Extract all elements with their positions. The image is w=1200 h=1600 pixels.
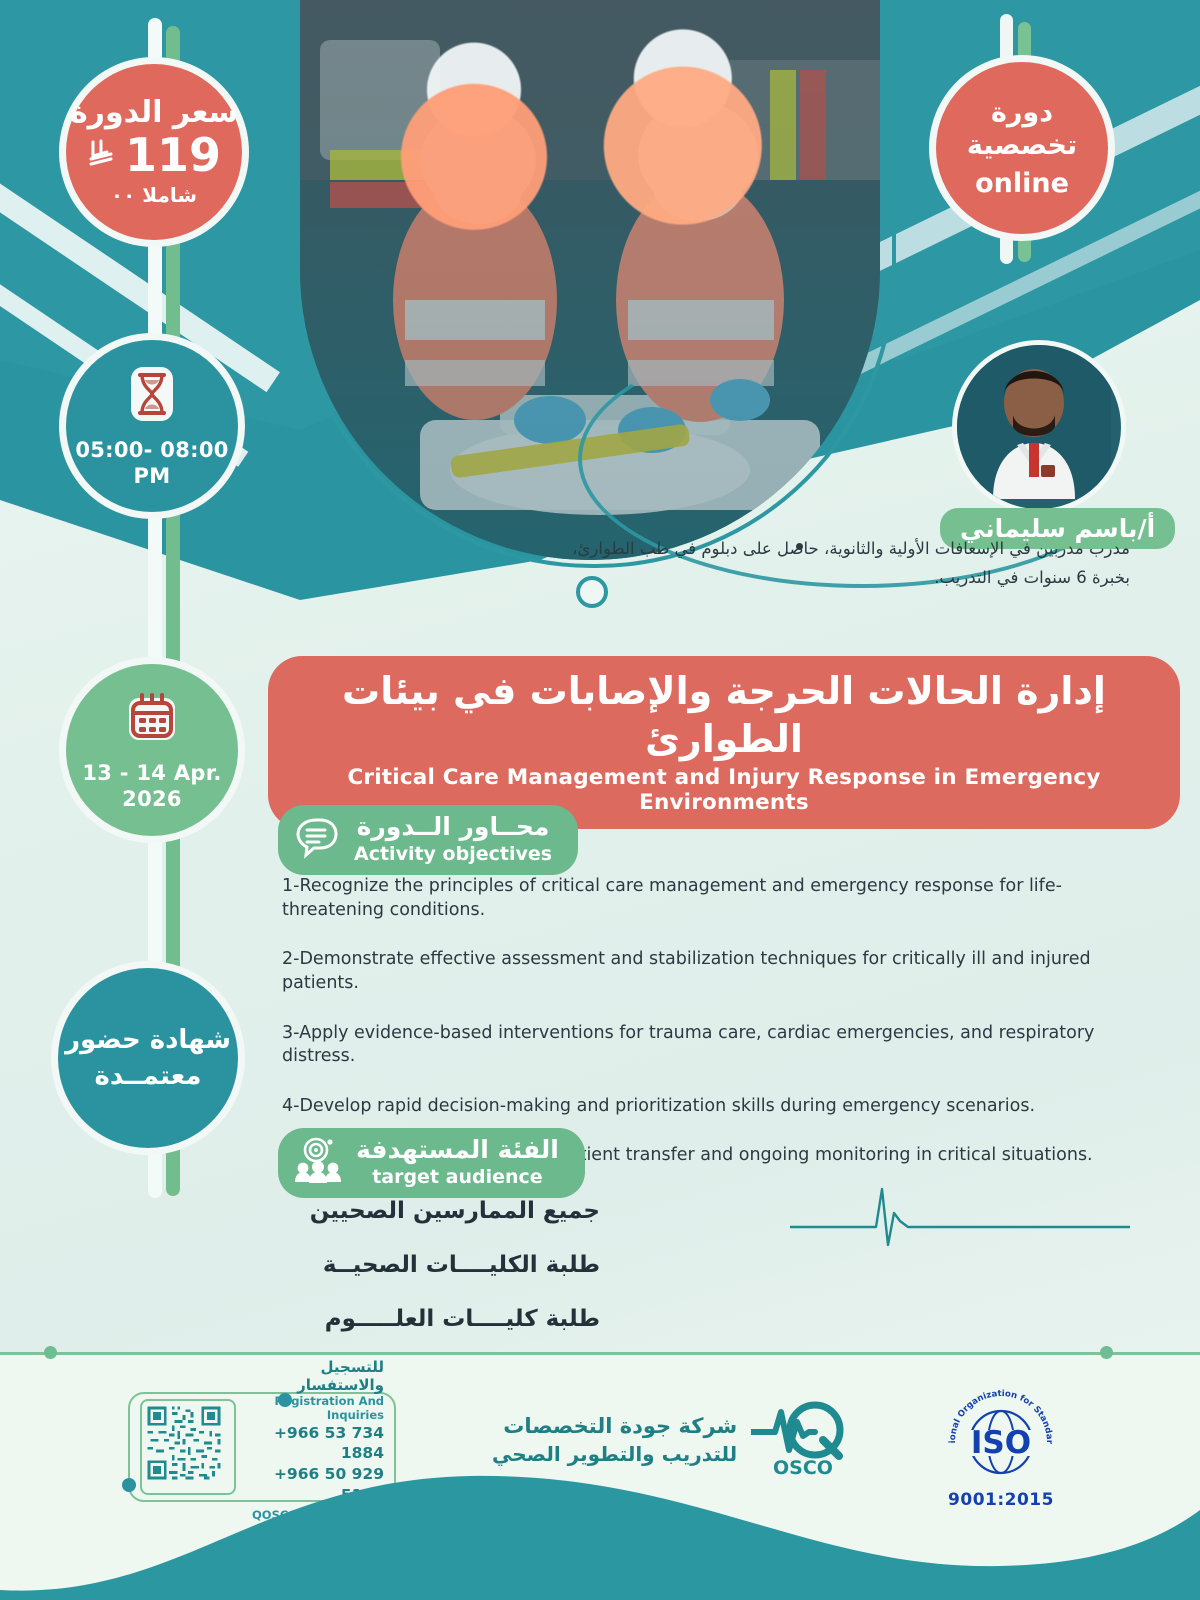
audience-list: جميع الممارسين الصحيين طلبة الكليــــات … [310,1198,600,1360]
course-title-arabic: إدارة الحالات الحرجة والإصابات في بيئات … [294,668,1154,763]
date-line2: 2026 [122,786,182,812]
contact-arabic-label: للتسجيل والاستفسار [246,1358,384,1394]
paramedics-illustration [300,0,880,560]
audience-header-english: target audience [356,1166,559,1189]
audience-header-arabic: الفئة المستهدفة [356,1136,559,1165]
objectives-section-header: محــاور الــدورة Activity objectives [278,805,578,875]
ecg-line-decoration [790,1175,1130,1259]
objective-item: 4-Develop rapid decision-making and prio… [282,1095,1134,1119]
date-badge: 13 - 14 Apr. 2026 [66,664,238,836]
audience-item: جميع الممارسين الصحيين [310,1198,600,1224]
footer-dot-right [1100,1346,1113,1359]
certificate-line1: شهادة حضور [65,1022,231,1058]
audience-section-header: الفئة المستهدفة target audience [278,1128,585,1198]
online-badge: دورة تخصصية online [936,62,1108,234]
objectives-header-arabic: محــاور الــدورة [354,813,552,842]
course-poster: سعر الدورة 119 شاملا ٠٠ دورة تخصصية onli… [0,0,1200,1600]
certificate-line2: معتمــدة [95,1058,202,1094]
time-line1: 05:00- 08:00 [75,437,228,463]
price-badge: سعر الدورة 119 شاملا ٠٠ [66,64,242,240]
objective-item: 3-Apply evidence-based interventions for… [282,1022,1134,1069]
online-badge-arabic: دورة تخصصية [936,97,1108,162]
hero-photo [300,0,880,560]
price-amount-row: 119 [87,132,221,178]
instructor-bio: مدرب مدربين في الإسعافات الأولية والثانو… [570,535,1130,593]
speech-bubble-list-icon [294,814,340,864]
target-people-icon [294,1136,342,1188]
time-line2: PM [134,463,171,489]
audience-header-text: الفئة المستهدفة target audience [356,1136,559,1189]
objective-item: 1-Recognize the principles of critical c… [282,875,1134,922]
objectives-header-text: محــاور الــدورة Activity objectives [354,813,552,866]
bottom-wave-decoration [0,1390,1200,1600]
saudi-riyal-icon [87,137,117,173]
time-badge: 05:00- 08:00 PM [66,340,238,512]
footer-dot-left [44,1346,57,1359]
calendar-icon [122,688,182,752]
price-label: سعر الدورة [70,98,238,128]
online-badge-english: online [975,168,1069,199]
objective-item: 2-Demonstrate effective assessment and s… [282,948,1134,995]
course-title-banner: إدارة الحالات الحرجة والإصابات في بيئات … [268,656,1180,829]
price-amount: 119 [125,132,221,178]
certificate-badge: شهادة حضور معتمــدة [58,968,238,1148]
instructor-avatar [952,340,1126,514]
objectives-header-english: Activity objectives [354,843,552,866]
hourglass-icon [121,363,183,429]
instructor-portrait [957,345,1111,499]
date-line1: 13 - 14 Apr. [82,760,221,786]
audience-item: طلبة الكليــــات الصحيــة [310,1252,600,1278]
price-sub-label: شاملا ٠٠ [111,183,197,207]
audience-item: طلبة كليــــات العلـــــوم [310,1306,600,1332]
